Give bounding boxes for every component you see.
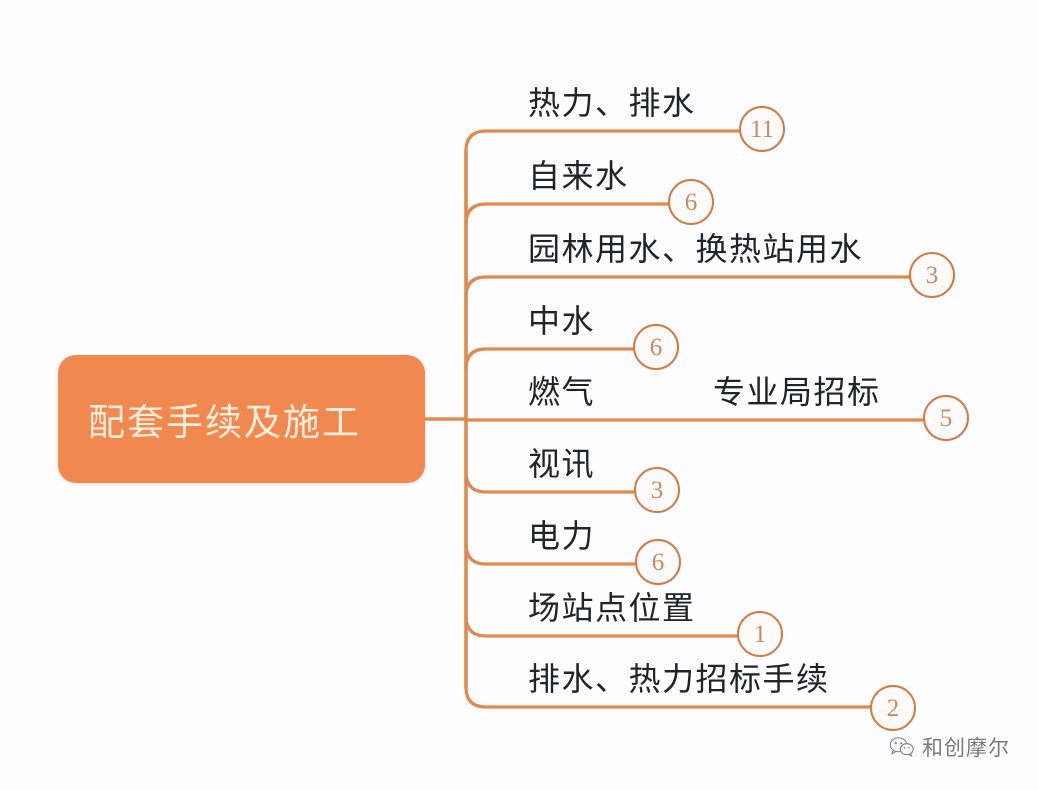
badge-value: 5 xyxy=(940,406,953,431)
badge-value: 6 xyxy=(685,190,698,215)
badge-value: 2 xyxy=(887,696,900,721)
branch-label[interactable]: 园林用水、换热站用水 xyxy=(528,233,863,265)
wechat-icon xyxy=(889,736,915,758)
branch-count-badge[interactable]: 6 xyxy=(633,324,679,370)
branch-count-badge[interactable]: 1 xyxy=(737,611,783,657)
badge-value: 6 xyxy=(650,335,663,360)
watermark-text: 和创摩尔 xyxy=(922,732,1010,762)
badge-value: 3 xyxy=(926,263,939,288)
branch-count-badge[interactable]: 2 xyxy=(870,685,916,731)
branch-count-badge[interactable]: 6 xyxy=(668,179,714,225)
badge-value: 1 xyxy=(754,622,767,647)
branch-label[interactable]: 排水、热力招标手续 xyxy=(528,663,830,695)
badge-value: 11 xyxy=(750,117,774,142)
branch-count-badge[interactable]: 6 xyxy=(635,539,681,585)
root-node[interactable]: 配套手续及施工 xyxy=(58,355,425,483)
branch-label[interactable]: 电力 xyxy=(528,520,595,552)
watermark: 和创摩尔 xyxy=(889,732,1010,762)
branch-label[interactable]: 燃气 xyxy=(528,376,595,408)
branch-label[interactable]: 场站点位置 xyxy=(528,592,696,624)
branch-count-badge[interactable]: 3 xyxy=(634,467,680,513)
badge-value: 3 xyxy=(651,478,664,503)
branch-label[interactable]: 视讯 xyxy=(528,448,595,480)
branch-label[interactable]: 中水 xyxy=(528,305,595,337)
root-node-label: 配套手续及施工 xyxy=(58,392,361,446)
badge-value: 6 xyxy=(652,550,665,575)
branch-count-badge[interactable]: 5 xyxy=(923,395,969,441)
branch-label[interactable]: 热力、排水 xyxy=(528,87,696,119)
branch-count-badge[interactable]: 11 xyxy=(739,106,785,152)
branch-annotation[interactable]: 专业局招标 xyxy=(713,376,881,408)
branch-label[interactable]: 自来水 xyxy=(528,160,629,192)
mindmap-canvas: 配套手续及施工 热力、排水11自来水6园林用水、换热站用水3中水6燃气专业局招标… xyxy=(0,0,1038,790)
branch-count-badge[interactable]: 3 xyxy=(909,252,955,298)
